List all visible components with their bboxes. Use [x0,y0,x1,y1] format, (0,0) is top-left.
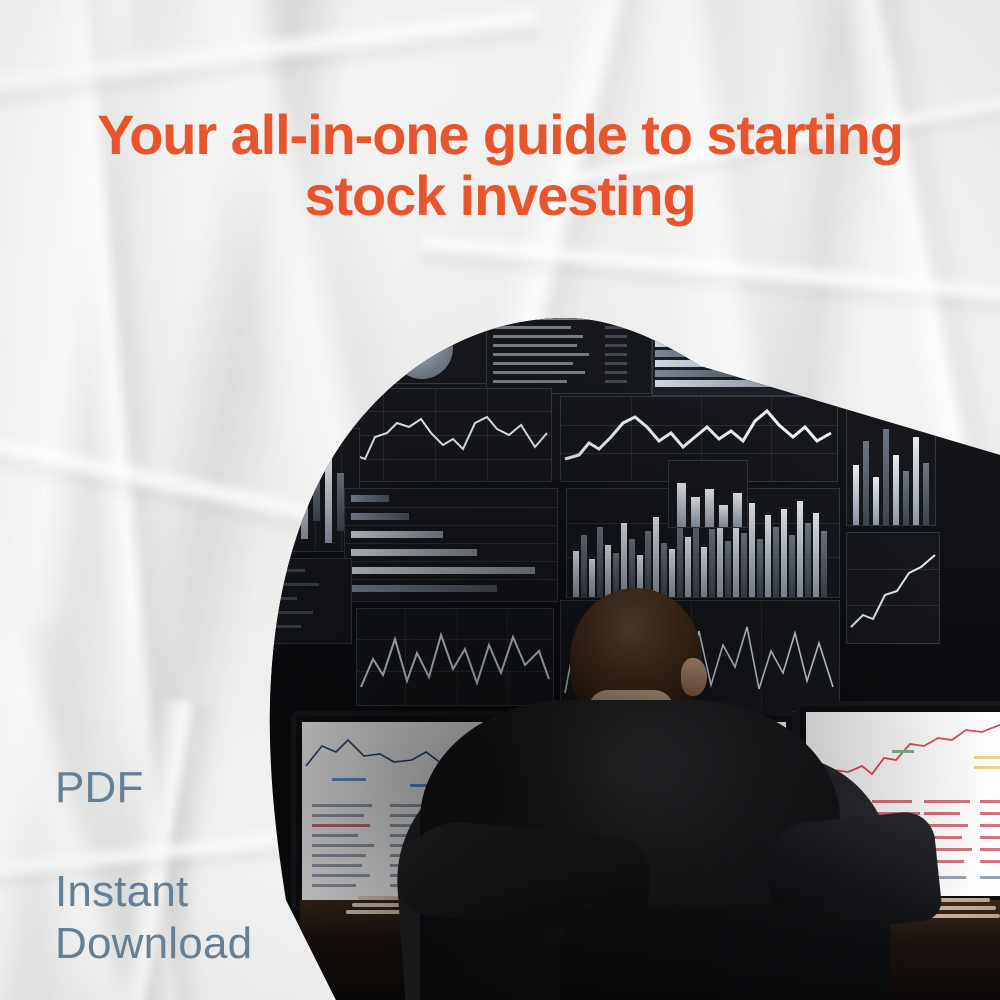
rightmost-trend-panel [846,532,940,644]
allocation-bar-panel [344,488,558,602]
mini-column-chart [668,460,748,528]
rightmost-line-series [847,533,939,643]
ear [681,658,707,696]
oscillator-chart [356,608,554,706]
oscillator-series [357,609,553,705]
delivery-label: Instant Download [55,866,252,970]
format-label: PDF [55,766,144,810]
office-chair [560,905,890,1000]
page-title: Your all-in-one guide to starting stock … [0,104,1000,226]
poster-canvas: Your all-in-one guide to starting stock … [0,0,1000,1000]
